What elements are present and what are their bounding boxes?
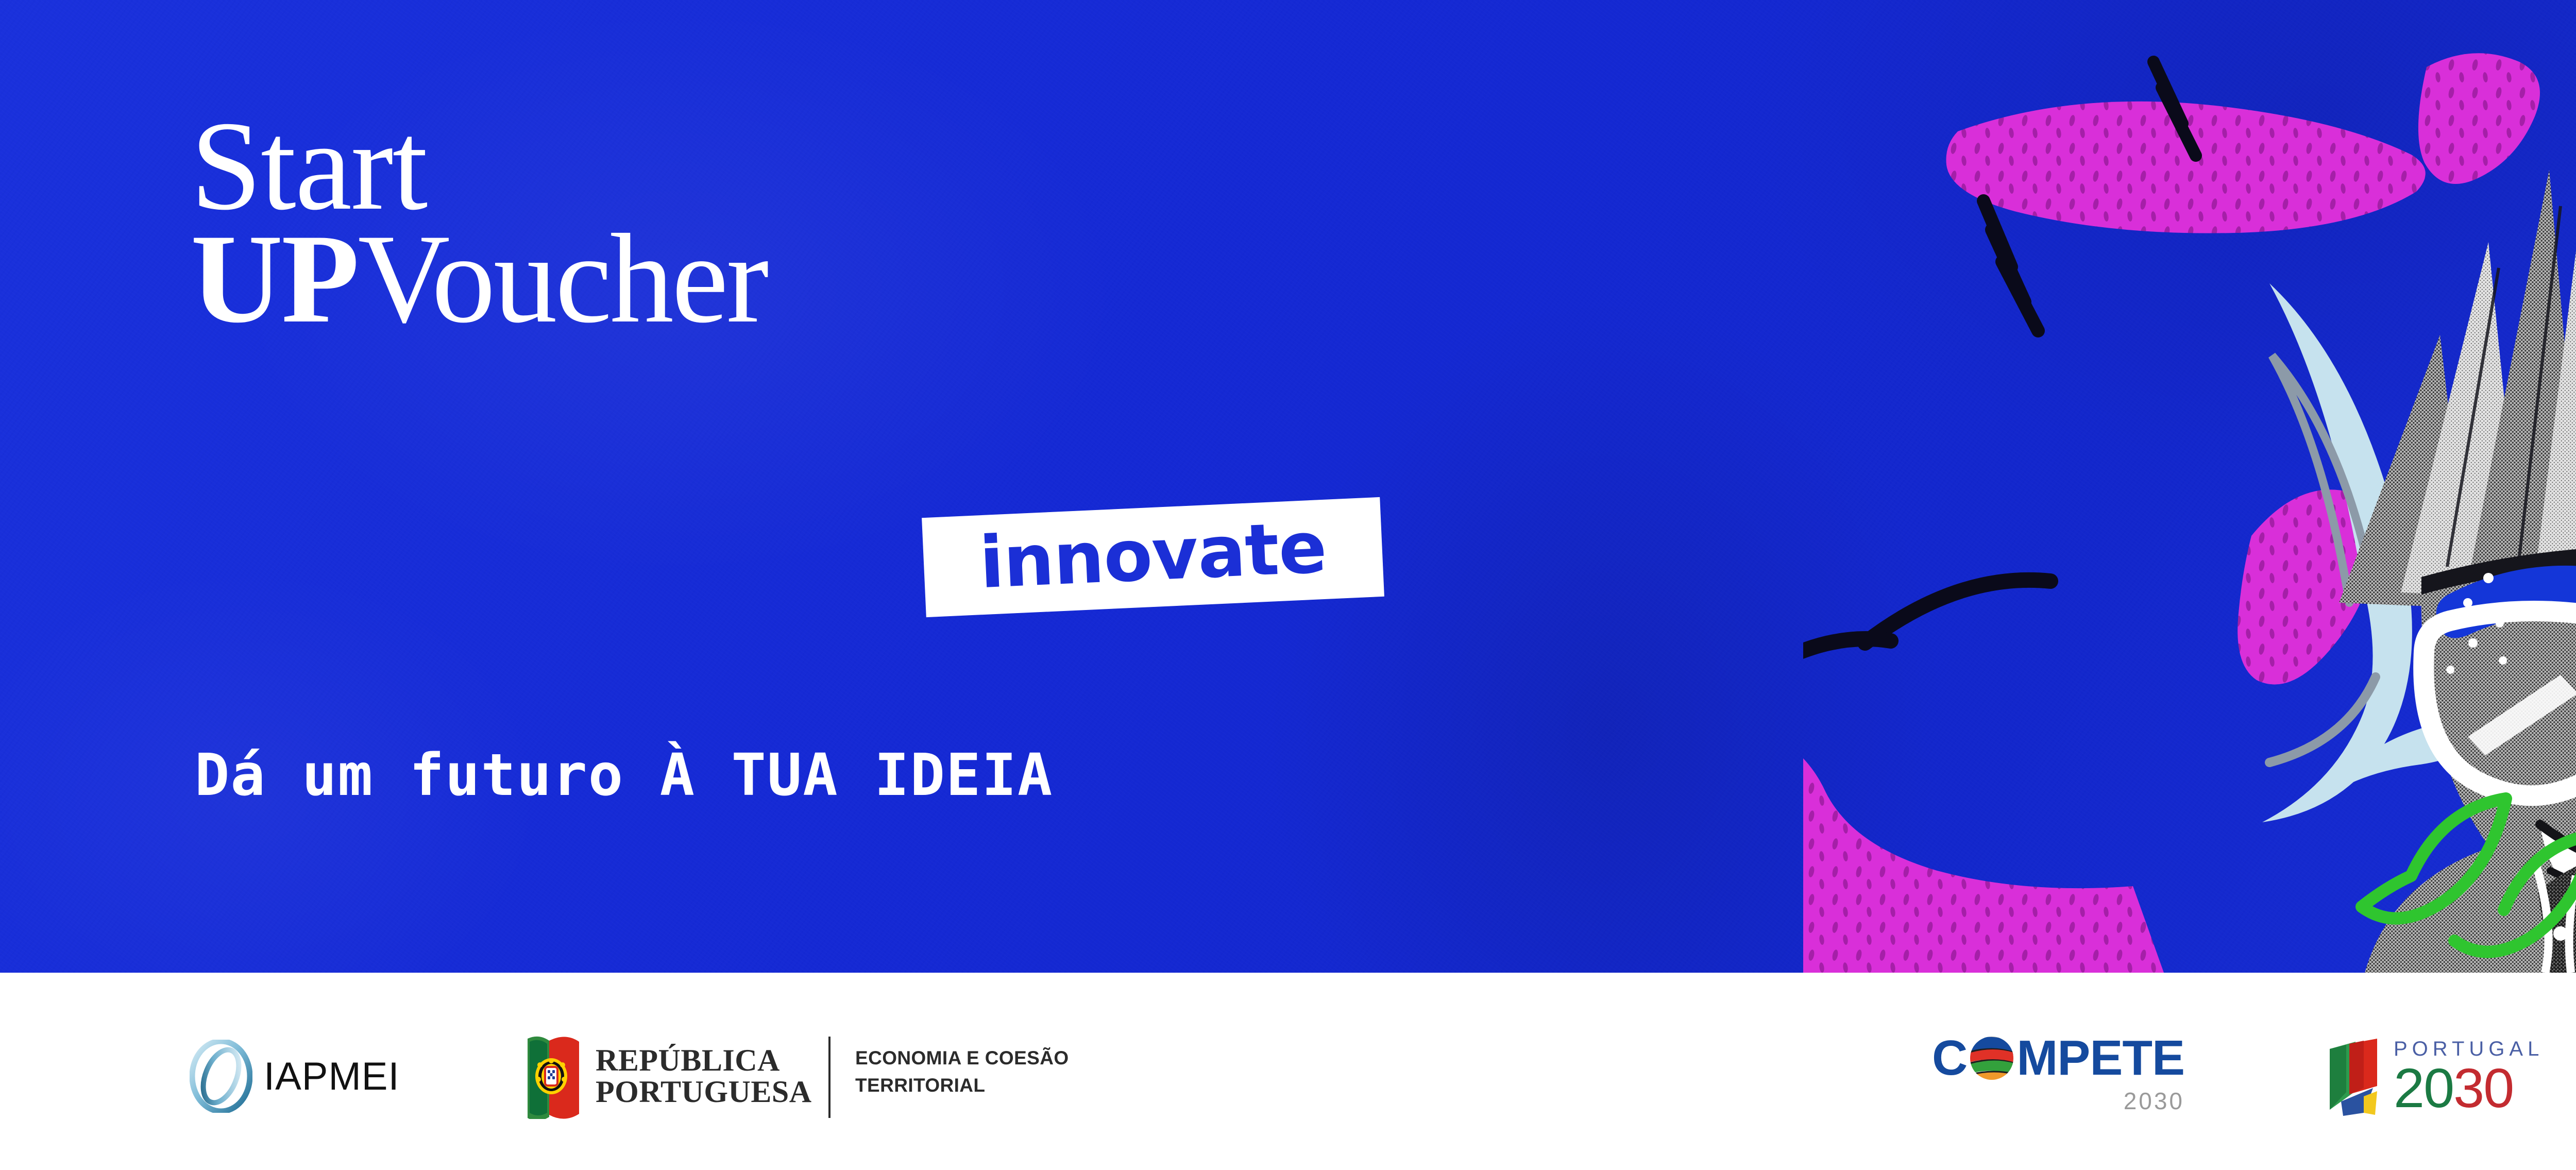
logo-row: IAPMEI xyxy=(0,973,2576,1170)
headline-line-1: Start xyxy=(191,111,767,221)
magenta-brush-bottom xyxy=(1803,714,2164,973)
rp-sublabel-line-1: ECONOMIA E COESÃO xyxy=(855,1045,1069,1072)
footer-logo-bar: IAPMEI xyxy=(0,973,2576,1170)
ellipse-ring-icon xyxy=(190,1040,252,1113)
rp-sublabel-line-2: TERRITORIAL xyxy=(855,1072,1069,1099)
logo-republica-portuguesa[interactable]: REPÚBLICA PORTUGUESA xyxy=(526,1033,812,1119)
pt2030-year-0: 0 xyxy=(2483,1057,2513,1119)
compete-word-left: C xyxy=(1932,1033,1967,1083)
pt2030-portugal: PORTUGAL xyxy=(2394,1039,2544,1059)
innovate-badge-label: innovate xyxy=(978,512,1328,598)
logo-compete-2030[interactable]: C xyxy=(1932,1033,2184,1115)
rp-sublabel: ECONOMIA E COESÃO TERRITORIAL xyxy=(855,1045,1069,1099)
rp-line-1: REPÚBLICA xyxy=(596,1045,812,1076)
magenta-brush-upper-right xyxy=(2418,53,2540,184)
headline-word-up: UP xyxy=(191,208,358,349)
hero-section: Start UPVoucher innovate Dá um futuro À … xyxy=(0,0,2576,973)
collage-svg xyxy=(1803,0,2576,973)
logo-iapmei[interactable]: IAPMEI xyxy=(190,1040,400,1113)
rp-line-2: PORTUGUESA xyxy=(596,1076,812,1108)
pt2030-year: 2030 xyxy=(2394,1060,2544,1116)
headline-line-2: UPVoucher xyxy=(191,224,767,333)
tagline: Dá um futuro À TUA IDEIA xyxy=(195,742,1053,809)
rp-divider xyxy=(828,1037,831,1118)
innovate-badge: innovate xyxy=(922,497,1384,617)
headline-word-voucher: Voucher xyxy=(358,208,767,349)
pt2030-year-3: 3 xyxy=(2453,1057,2483,1119)
headline: Start UPVoucher xyxy=(191,111,767,334)
collage-illustration xyxy=(1803,0,2576,973)
portugal-flag-crest-icon xyxy=(526,1033,581,1119)
rp-wordmark: REPÚBLICA PORTUGUESA xyxy=(596,1045,812,1108)
pt2030-wordmark: PORTUGAL 2030 xyxy=(2394,1039,2544,1116)
striped-globe-icon xyxy=(1968,1035,2015,1082)
iapmei-wordmark: IAPMEI xyxy=(264,1054,400,1099)
compete-wordmark: C xyxy=(1932,1033,2184,1083)
pt2030-year-20: 20 xyxy=(2394,1057,2453,1119)
portugal-flag-wedge-icon xyxy=(2324,1035,2385,1120)
compete-word-right: MPETE xyxy=(2016,1033,2184,1083)
logo-portugal-2030[interactable]: PORTUGAL 2030 xyxy=(2324,1035,2544,1120)
compete-year: 2030 xyxy=(1932,1087,2184,1115)
startup-voucher-banner: Start UPVoucher innovate Dá um futuro À … xyxy=(0,0,2576,1170)
